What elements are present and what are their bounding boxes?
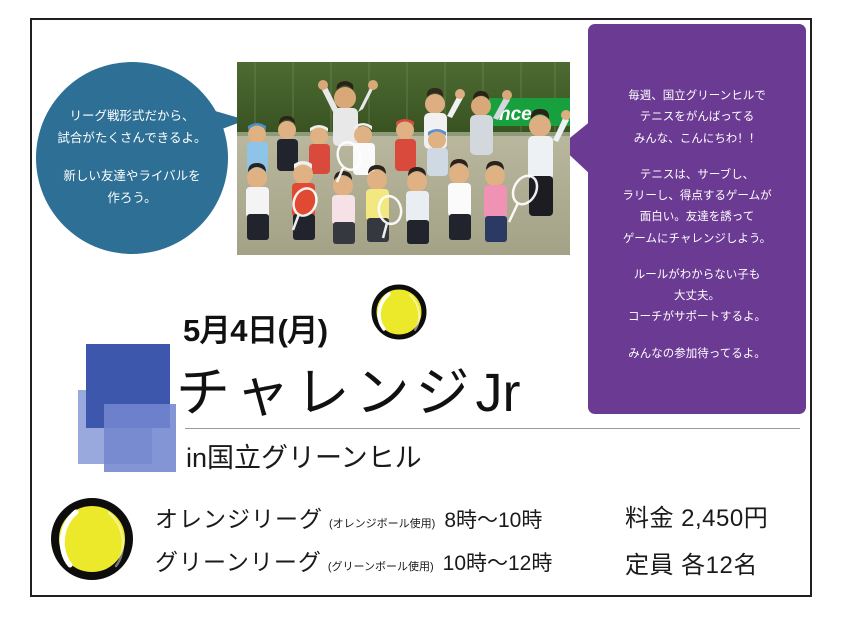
purple-line-3: みんな、こんにちわ！！ bbox=[600, 129, 794, 150]
page-title-main: チャレンジ bbox=[176, 363, 475, 423]
purple-line-9: 大丈夫。 bbox=[600, 286, 794, 307]
league-time: 8時〜10時 bbox=[444, 504, 542, 534]
blue-bubble-line-4: 作ろう。 bbox=[107, 188, 156, 210]
fee-capacity-block: 料金 2,450円 定員 各12名 bbox=[625, 498, 768, 592]
purple-panel-text: 毎週、国立グリーンヒルで テニスをがんばってる みんな、こんにちわ！！ テニスは… bbox=[588, 24, 806, 414]
tennis-ball-icon bbox=[370, 283, 428, 341]
purple-spacer-1 bbox=[600, 150, 794, 165]
title-divider bbox=[185, 428, 800, 429]
purple-spacer-2 bbox=[600, 250, 794, 265]
blue-bubble-line-2: 試合がたくさんできるよ。 bbox=[57, 128, 206, 150]
purple-line-11: みんなの参加待ってるよ。 bbox=[600, 344, 794, 365]
fee-text: 料金 2,450円 bbox=[625, 498, 768, 533]
blue-bubble-text: リーグ戦形式だから、 試合がたくさんできるよ。 新しい友達やライバルを 作ろう。 bbox=[36, 62, 228, 254]
purple-line-2: テニスをがんばってる bbox=[600, 107, 794, 128]
league-ball-note: (グリーンボール使用) bbox=[328, 558, 434, 574]
league-name: グリーンリーグ bbox=[155, 543, 322, 577]
purple-line-6: 面白い。友達を誘って bbox=[600, 207, 794, 228]
capacity-text: 定員 各12名 bbox=[625, 545, 768, 580]
league-name: オレンジリーグ bbox=[155, 500, 323, 534]
league-time: 10時〜12時 bbox=[443, 547, 553, 577]
purple-line-10: コーチがサポートするよ。 bbox=[600, 307, 794, 328]
group-photo: nce bbox=[237, 62, 570, 255]
purple-line-1: 毎週、国立グリーンヒルで bbox=[600, 86, 794, 107]
league-row: グリーンリーグ (グリーンボール使用) 10時〜12時 bbox=[155, 543, 552, 577]
page-title: チャレンジJr bbox=[176, 348, 520, 427]
venue-subtitle: in国立グリーンヒル bbox=[186, 436, 422, 475]
blue-bubble-line-1: リーグ戦形式だから、 bbox=[69, 106, 194, 128]
league-schedule-list: オレンジリーグ (オレンジボール使用) 8時〜10時 グリーンリーグ (グリーン… bbox=[155, 500, 552, 586]
league-row: オレンジリーグ (オレンジボール使用) 8時〜10時 bbox=[155, 500, 552, 534]
purple-line-5: ラリーし、得点するゲームが bbox=[600, 186, 794, 207]
purple-line-8: ルールがわからない子も bbox=[600, 265, 794, 286]
purple-line-4: テニスは、サーブし、 bbox=[600, 165, 794, 186]
blue-bubble-line-3: 新しい友達やライバルを bbox=[63, 166, 200, 188]
page-title-suffix: Jr bbox=[475, 363, 520, 423]
decorative-square-mid bbox=[104, 404, 176, 472]
event-date: 5月4日(月) bbox=[183, 305, 328, 350]
league-ball-note: (オレンジボール使用) bbox=[329, 515, 435, 531]
tennis-ball-icon bbox=[48, 495, 136, 583]
purple-line-7: ゲームにチャレンジしよう。 bbox=[600, 229, 794, 250]
poster-canvas: リーグ戦形式だから、 試合がたくさんできるよ。 新しい友達やライバルを 作ろう。 bbox=[0, 0, 844, 617]
purple-spacer-3 bbox=[600, 329, 794, 344]
